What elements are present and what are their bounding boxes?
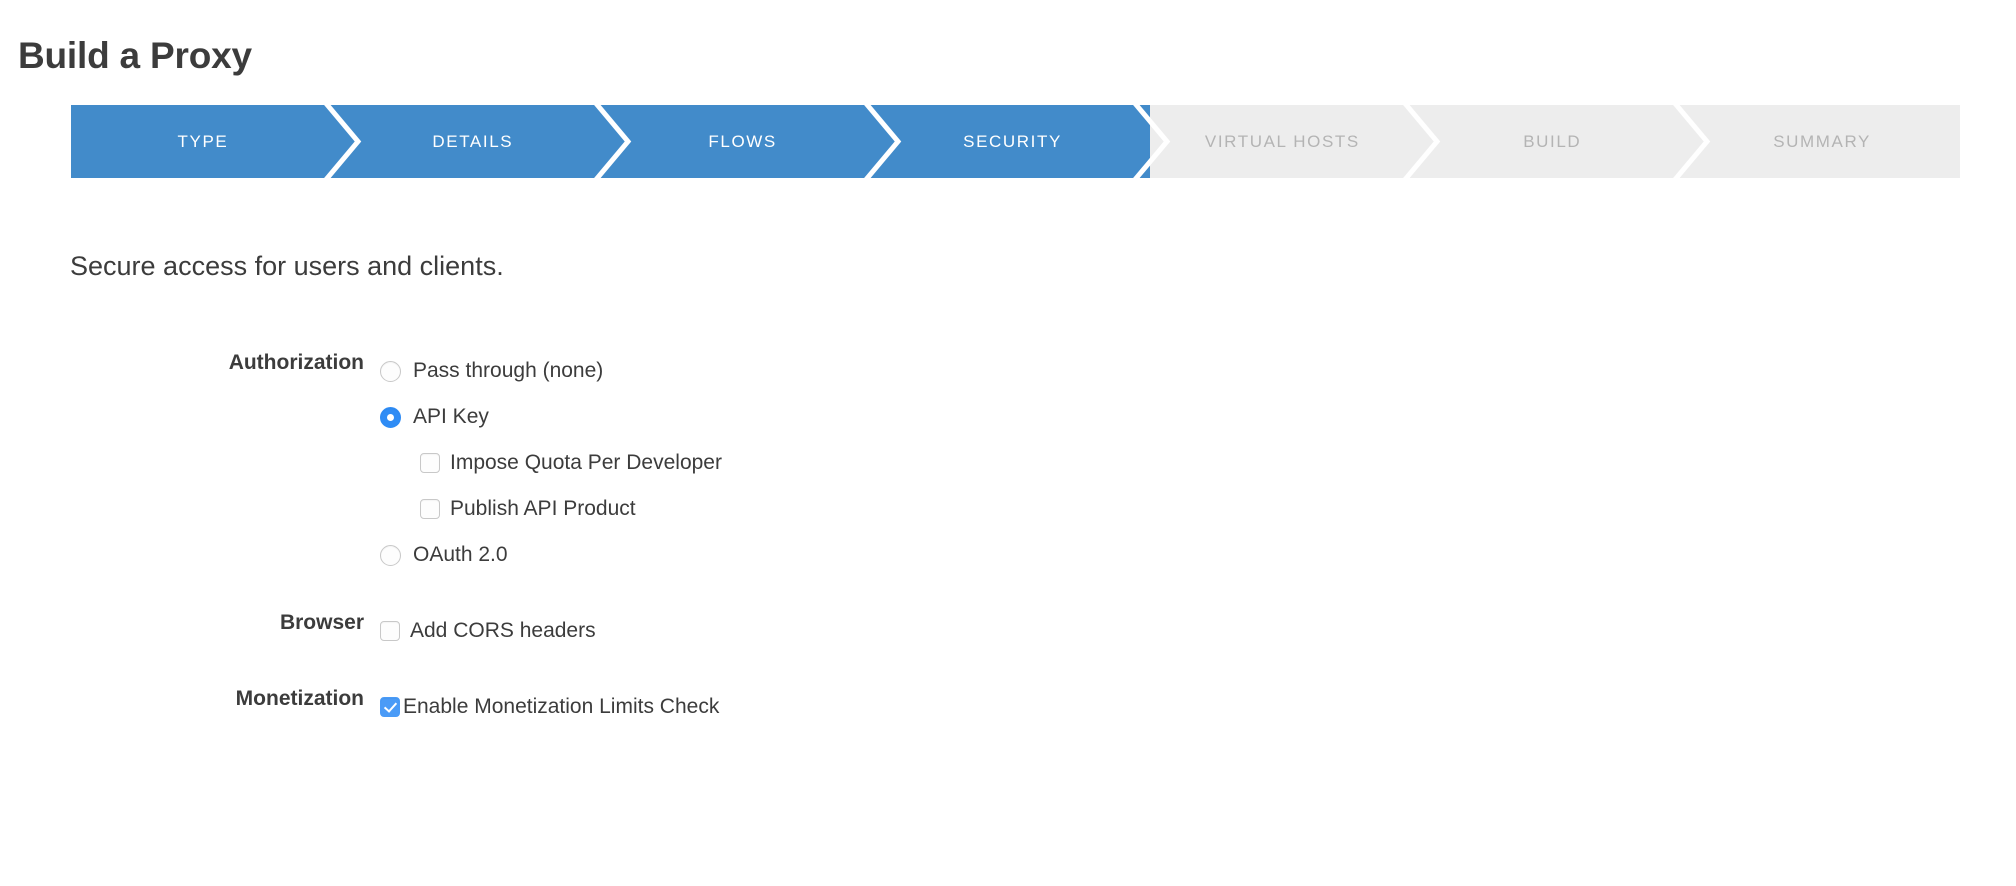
option-pass-through-none[interactable]: Pass through (none) [380, 348, 2016, 394]
wizard-step-label: BUILD [1523, 132, 1587, 152]
wizard-step-build[interactable]: BUILD [1420, 105, 1690, 178]
checkbox-input[interactable] [420, 499, 440, 519]
option-publish-api-product[interactable]: Publish API Product [380, 486, 2016, 532]
form-row-fields: Pass through (none)API KeyImpose Quota P… [380, 348, 2016, 578]
form-row: BrowserAdd CORS headers [0, 608, 2016, 654]
checkbox-input[interactable] [380, 697, 400, 717]
checkbox-input[interactable] [420, 453, 440, 473]
step-description: Secure access for users and clients. [70, 249, 504, 283]
form-row-fields: Enable Monetization Limits Check [380, 684, 2016, 730]
wizard-step-label: SECURITY [963, 132, 1068, 152]
option-label: OAuth 2.0 [413, 542, 508, 568]
build-proxy-page: Build a Proxy TYPEDETAILSFLOWSSECURITYVI… [0, 0, 2016, 886]
option-enable-monetization-limits-check[interactable]: Enable Monetization Limits Check [380, 684, 2016, 730]
option-label: Impose Quota Per Developer [450, 450, 722, 476]
wizard-step-bar: TYPEDETAILSFLOWSSECURITYVIRTUAL HOSTSBUI… [71, 105, 1960, 178]
radio-button[interactable] [380, 407, 401, 428]
wizard-step-security[interactable]: SECURITY [881, 105, 1151, 178]
radio-button[interactable] [380, 361, 401, 382]
option-api-key[interactable]: API Key [380, 394, 2016, 440]
row-spacer [0, 654, 2016, 684]
wizard-step-label: FLOWS [708, 132, 782, 152]
form-row-label: Monetization [0, 684, 380, 714]
security-form: AuthorizationPass through (none)API KeyI… [0, 348, 2016, 730]
wizard-step-label: SUMMARY [1773, 132, 1877, 152]
wizard-step-details[interactable]: DETAILS [341, 105, 611, 178]
option-add-cors-headers[interactable]: Add CORS headers [380, 608, 2016, 654]
wizard-step-flows[interactable]: FLOWS [611, 105, 881, 178]
option-impose-quota-per-developer[interactable]: Impose Quota Per Developer [380, 440, 2016, 486]
checkbox-input[interactable] [380, 621, 400, 641]
wizard-step-type[interactable]: TYPE [71, 105, 341, 178]
row-spacer [0, 578, 2016, 608]
wizard-step-label: TYPE [178, 132, 235, 152]
option-label: Add CORS headers [410, 618, 596, 644]
option-label: API Key [413, 404, 489, 430]
wizard-step-summary[interactable]: SUMMARY [1690, 105, 1960, 178]
option-label: Publish API Product [450, 496, 636, 522]
option-oauth-2-0[interactable]: OAuth 2.0 [380, 532, 2016, 578]
form-row-label: Browser [0, 608, 380, 638]
page-title: Build a Proxy [18, 33, 252, 79]
radio-button[interactable] [380, 545, 401, 566]
form-row: AuthorizationPass through (none)API KeyI… [0, 348, 2016, 578]
option-label: Enable Monetization Limits Check [403, 694, 719, 720]
wizard-step-label: VIRTUAL HOSTS [1205, 132, 1366, 152]
form-row: MonetizationEnable Monetization Limits C… [0, 684, 2016, 730]
form-row-label: Authorization [0, 348, 380, 378]
option-label: Pass through (none) [413, 358, 603, 384]
wizard-step-label: DETAILS [432, 132, 519, 152]
form-row-fields: Add CORS headers [380, 608, 2016, 654]
wizard-step-virtual-hosts[interactable]: VIRTUAL HOSTS [1150, 105, 1420, 178]
